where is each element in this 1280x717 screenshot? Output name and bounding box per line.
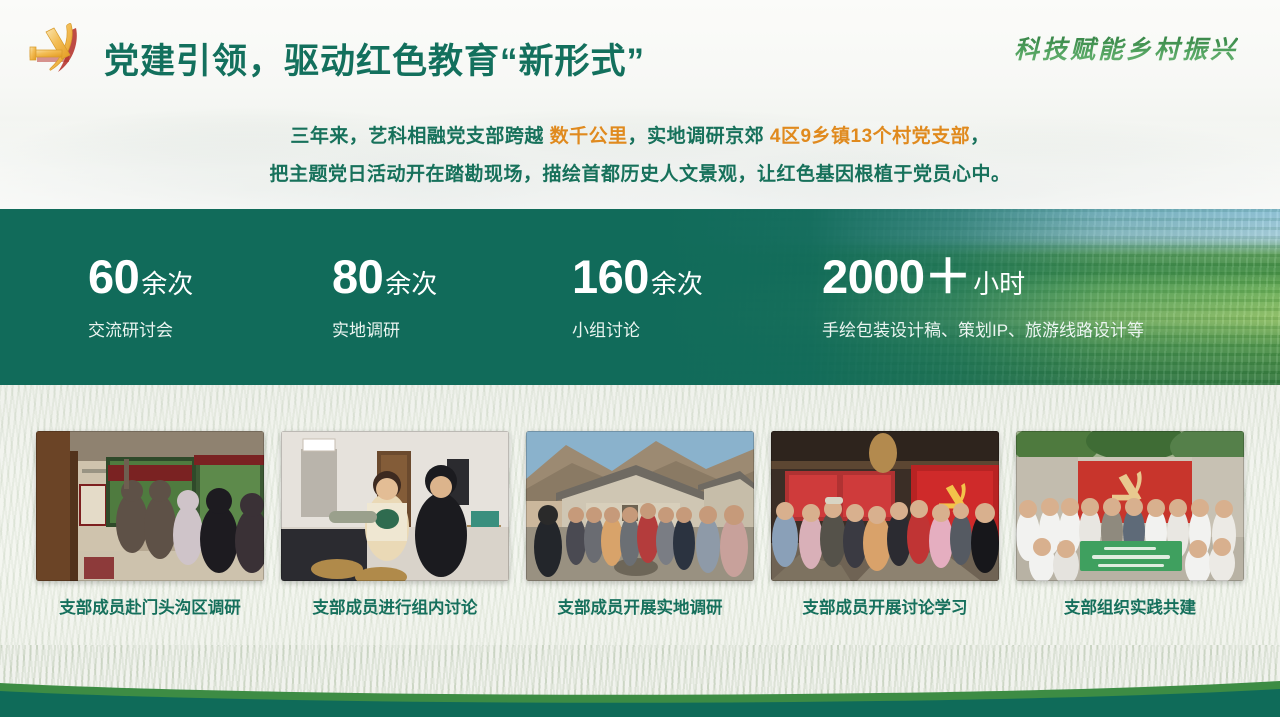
stat-caption: 手绘包装设计稿、策划IP、旅游线路设计等 [822, 316, 1252, 341]
subtitle-line-1: 三年来，艺科相融党支部跨越 数千公里，实地调研京郊 4区9乡镇13个村党支部， [0, 118, 1280, 156]
stat-caption: 实地调研 [332, 316, 572, 341]
gallery-card[interactable]: 支部成员进行组内讨论 [281, 431, 509, 645]
subtitle-seg-b: ，实地调研京郊 [628, 126, 770, 147]
gallery-caption: 支部成员开展实地调研 [526, 594, 754, 618]
photo-gallery: 支部成员赴门头沟区调研 [0, 385, 1280, 645]
photo-thumbnail-mentougou-visit[interactable] [36, 431, 264, 581]
subtitle-line-2: 把主题党日活动开在踏勘现场，描绘首都历史人文景观，让红色基因根植于党员心中。 [0, 156, 1280, 194]
photo-thumbnail-village-field-research[interactable] [526, 431, 754, 581]
stat-number: 160 [572, 250, 649, 303]
photo-thumbnail-group-discussion[interactable] [281, 431, 509, 581]
gallery-card[interactable]: 支部组织实践共建 [1016, 431, 1244, 645]
footer-grass-texture [0, 645, 1280, 717]
photo-thumbnail-red-hall-study[interactable] [771, 431, 999, 581]
stat-unit: 余次 [651, 269, 703, 299]
gallery-caption: 支部成员进行组内讨论 [281, 594, 509, 618]
brand-slogan: 科技赋能乡村振兴 [1014, 30, 1238, 66]
stat-item-seminars: 60余次 交流研讨会 [88, 253, 332, 341]
stats-band: 60余次 交流研讨会 80余次 实地调研 160余次 小组讨论 2000＋小时 [0, 209, 1280, 385]
stat-number: 2000＋ [822, 250, 971, 303]
subtitle-block: 三年来，艺科相融党支部跨越 数千公里，实地调研京郊 4区9乡镇13个村党支部， … [0, 118, 1280, 194]
stat-caption: 小组讨论 [572, 316, 822, 341]
stat-item-group-discussion: 160余次 小组讨论 [572, 253, 822, 341]
subtitle-seg-c: ， [970, 126, 990, 147]
stat-item-design-hours: 2000＋小时 手绘包装设计稿、策划IP、旅游线路设计等 [822, 253, 1252, 341]
stat-caption: 交流研讨会 [88, 316, 332, 341]
stat-unit: 余次 [141, 269, 193, 299]
subtitle-seg-a: 三年来，艺科相融党支部跨越 [290, 126, 549, 147]
stat-unit: 小时 [973, 269, 1025, 299]
stat-unit: 余次 [385, 269, 437, 299]
party-hammer-sickle-emblem-icon [26, 22, 90, 86]
gallery-card[interactable]: 支部成员开展讨论学习 [771, 431, 999, 645]
gallery-caption: 支部组织实践共建 [1016, 594, 1244, 618]
stat-number: 80 [332, 250, 383, 303]
gallery-caption: 支部成员赴门头沟区调研 [36, 594, 264, 618]
footer-green-curve [0, 667, 1280, 717]
photo-thumbnail-party-wall-group-photo[interactable] [1016, 431, 1244, 581]
header: 党建引领，驱动红色教育“新形式” 科技赋能乡村振兴 [0, 0, 1280, 92]
stat-number: 60 [88, 250, 139, 303]
gallery-caption: 支部成员开展讨论学习 [771, 594, 999, 618]
subtitle-highlight-scope: 4区9乡镇13个村党支部 [770, 126, 970, 147]
gallery-card[interactable]: 支部成员开展实地调研 [526, 431, 754, 645]
page-title: 党建引领，驱动红色教育“新形式” [104, 33, 645, 84]
gallery-card[interactable]: 支部成员赴门头沟区调研 [36, 431, 264, 645]
subtitle-highlight-distance: 数千公里 [550, 126, 628, 147]
poster-page: 党建引领，驱动红色教育“新形式” 科技赋能乡村振兴 三年来，艺科相融党支部跨越 … [0, 0, 1280, 717]
stat-item-fieldwork: 80余次 实地调研 [332, 253, 572, 341]
